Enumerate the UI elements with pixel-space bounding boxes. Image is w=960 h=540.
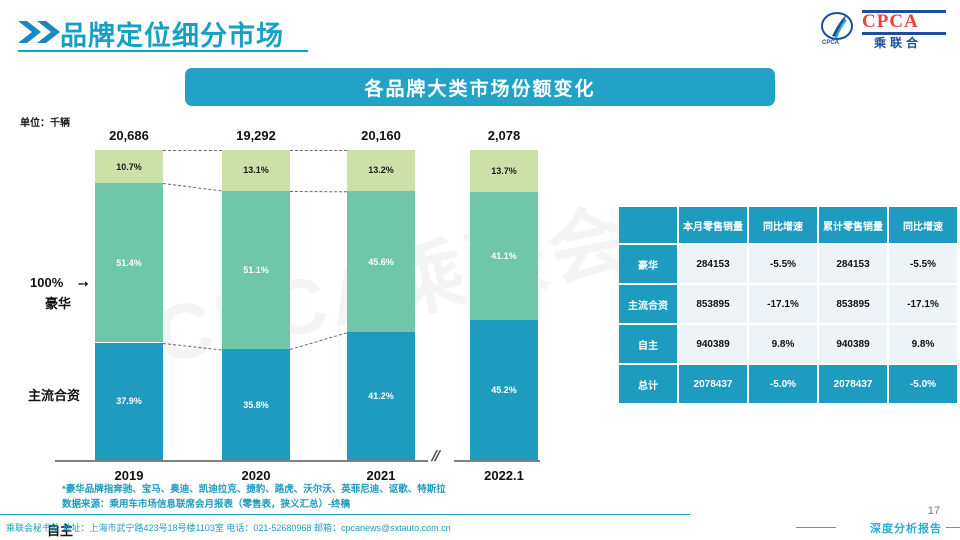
- logo-wordmark: CPCA: [862, 11, 919, 33]
- segment-connector-line: [163, 150, 222, 151]
- bar-segment-domestic: 37.9%: [95, 343, 163, 460]
- logo-subtitle: 乘联合: [874, 34, 922, 51]
- logo-microtext: CPCA: [822, 40, 839, 46]
- unit-label: 单位：千辆: [20, 114, 70, 129]
- table-cell: 9.8%: [749, 325, 817, 363]
- x-axis-line: [55, 460, 540, 462]
- segment-connector-line: [163, 343, 222, 351]
- stacked-bar-chart: 100% ➙ 豪华 主流合资 自主 10.7%51.4%37.9%20,6862…: [0, 130, 600, 485]
- bar-segment-domestic: 35.8%: [222, 349, 290, 460]
- bar-segment-luxury: 10.7%: [95, 150, 163, 183]
- footer-contact: 乘联会秘书处 地址：上海市武宁路423号18号楼1103室 电话：021-526…: [6, 521, 451, 534]
- table-cell: 940389: [819, 325, 887, 363]
- table-cell: 284153: [819, 245, 887, 283]
- footnote-data-source: 数据来源：乘用车市场信息联席会月报表（零售表，狭义汇总）-终稿: [62, 496, 350, 510]
- segment-connector-line: [290, 332, 347, 350]
- bar-segment-joint-venture: 51.1%: [222, 191, 290, 349]
- x-axis-tick-label: 2022.1: [470, 468, 538, 483]
- footer-rule-left: [796, 527, 836, 528]
- bar-segment-domestic: 41.2%: [347, 332, 415, 460]
- footnote-luxury-brands: *豪华品牌指奔驰、宝马、奥迪、凯迪拉克、捷豹、路虎、沃尔沃、英菲尼迪、讴歌、特斯…: [62, 481, 446, 495]
- footer-report-label: 深度分析报告: [870, 520, 942, 536]
- table-header-cell: 同比增速: [749, 207, 817, 243]
- bar-total-label: 20,686: [95, 128, 163, 143]
- table-header-cell: 同比增速: [889, 207, 957, 243]
- chart-title-banner: 各品牌大类市场份额变化: [185, 68, 775, 106]
- table-cell: 9.8%: [889, 325, 957, 363]
- table-corner-cell: [619, 207, 677, 243]
- table-cell: -5.5%: [749, 245, 817, 283]
- page-title: 品牌定位细分市场: [60, 14, 284, 53]
- table-row-header: 总计: [619, 365, 677, 403]
- table-row: 主流合资853895-17.1%853895-17.1%: [619, 285, 957, 323]
- double-chevron-icon: [18, 20, 62, 44]
- table-row: 总计2078437-5.0%2078437-5.0%: [619, 365, 957, 403]
- series-label-joint-venture: 主流合资: [28, 385, 80, 404]
- table-row: 自主9403899.8%9403899.8%: [619, 325, 957, 363]
- cpca-logo: CPCA 乘联合 CPCA: [820, 10, 950, 52]
- table-row-header: 主流合资: [619, 285, 677, 323]
- table-header-cell: 本月零售销量: [679, 207, 747, 243]
- table-header-row: 本月零售销量同比增速累计零售销量同比增速: [619, 207, 957, 243]
- bar-segment-joint-venture: 51.4%: [95, 183, 163, 342]
- bar-total-label: 2,078: [470, 128, 538, 143]
- table-cell: -5.0%: [749, 365, 817, 403]
- page-number: 17: [928, 505, 940, 517]
- bar-total-label: 19,292: [222, 128, 290, 143]
- axis-top-label: 100%: [30, 275, 63, 290]
- footer-rule-right: [946, 527, 960, 528]
- table-cell: 853895: [819, 285, 887, 323]
- table-cell: 284153: [679, 245, 747, 283]
- segment-connector-line: [290, 191, 347, 192]
- table-header-cell: 累计零售销量: [819, 207, 887, 243]
- bar-segment-luxury: 13.2%: [347, 150, 415, 191]
- table-row-header: 自主: [619, 325, 677, 363]
- table-row: 豪华284153-5.5%284153-5.5%: [619, 245, 957, 283]
- bar-segment-luxury: 13.7%: [470, 150, 538, 192]
- title-underline: [18, 50, 308, 52]
- segment-connector-line: [290, 150, 347, 151]
- summary-table: 本月零售销量同比增速累计零售销量同比增速豪华284153-5.5%284153-…: [617, 205, 959, 405]
- segment-connector-line: [163, 183, 222, 191]
- bar-segment-domestic: 45.2%: [470, 320, 538, 460]
- series-label-luxury: 豪华: [45, 293, 71, 312]
- table-cell: -17.1%: [889, 285, 957, 323]
- footer-divider: [0, 514, 690, 515]
- bar-segment-luxury: 13.1%: [222, 150, 290, 191]
- table-cell: 853895: [679, 285, 747, 323]
- bar-segment-joint-venture: 41.1%: [470, 192, 538, 319]
- bar-total-label: 20,160: [347, 128, 415, 143]
- table-cell: -17.1%: [749, 285, 817, 323]
- table-cell: 2078437: [819, 365, 887, 403]
- bar-segment-joint-venture: 45.6%: [347, 191, 415, 332]
- axis-arrow-icon: ➙: [78, 276, 89, 292]
- slide: 品牌定位细分市场 CPCA 乘联合 CPCA 各品牌大类市场份额变化 CPCA乘…: [0, 0, 960, 540]
- table-row-header: 豪华: [619, 245, 677, 283]
- table-cell: 940389: [679, 325, 747, 363]
- table-cell: -5.5%: [889, 245, 957, 283]
- table-cell: 2078437: [679, 365, 747, 403]
- table-cell: -5.0%: [889, 365, 957, 403]
